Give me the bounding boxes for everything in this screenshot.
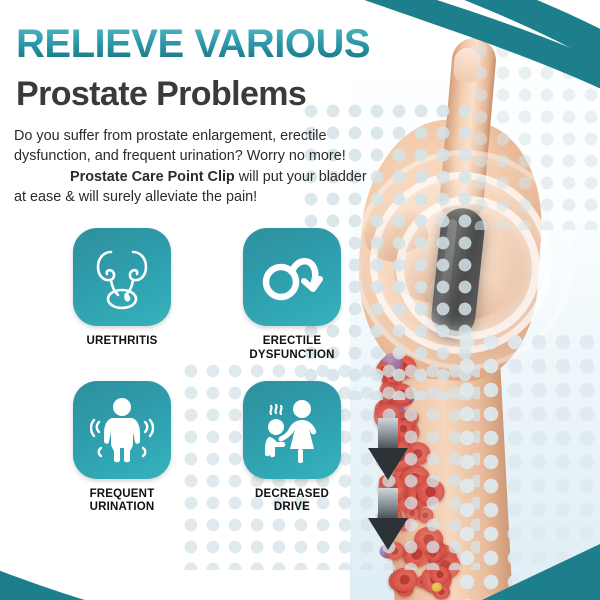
feature-tile bbox=[243, 228, 341, 326]
body-line-4: at ease & will surely alleviate the pain… bbox=[14, 189, 257, 205]
feature-label-line1: FREQUENT bbox=[90, 488, 155, 500]
feature-decreased-drive[interactable]: DECREASED DRIVE bbox=[222, 381, 362, 516]
bottom-right-corner-wedge bbox=[482, 544, 600, 600]
feature-label: FREQUENT URINATION bbox=[90, 488, 155, 516]
feature-tile bbox=[73, 228, 171, 326]
platelet bbox=[432, 582, 442, 591]
male-symbol-drooping-icon bbox=[260, 248, 324, 306]
feature-grid: URETHRITIS ERECTILE DYSFUNCTION bbox=[52, 228, 362, 515]
feature-erectile-dysfunction[interactable]: ERECTILE DYSFUNCTION bbox=[222, 228, 362, 363]
feature-label-line2: DYSFUNCTION bbox=[249, 349, 334, 361]
page-subtitle: Prostate Problems bbox=[16, 77, 306, 111]
feature-label: URETHRITIS bbox=[87, 335, 158, 349]
ripple-ring-inner bbox=[396, 196, 540, 340]
body-line-1: Do you suffer from prostate enlargement,… bbox=[14, 128, 326, 144]
advertisement-canvas: RELIEVE VARIOUS Prostate Problems Do you… bbox=[0, 0, 600, 600]
down-arrow-icon bbox=[368, 418, 408, 480]
feature-label: DECREASED DRIVE bbox=[255, 488, 329, 516]
feature-label-line2: URINATION bbox=[90, 501, 155, 513]
feature-frequent-urination[interactable]: FREQUENT URINATION bbox=[52, 381, 192, 516]
body-line-2: dysfunction, and frequent urination? Wor… bbox=[14, 148, 346, 164]
feature-tile bbox=[243, 381, 341, 479]
red-blood-cell bbox=[391, 567, 418, 592]
body-copy: Do you suffer from prostate enlargement,… bbox=[14, 126, 374, 208]
feature-label-line1: DECREASED bbox=[255, 488, 329, 500]
feature-row-2: FREQUENT URINATION bbox=[52, 381, 362, 516]
product-name: Prostate Care Point Clip bbox=[70, 169, 235, 185]
fingernail-shape bbox=[453, 47, 482, 83]
kidneys-bladder-icon bbox=[91, 244, 153, 310]
bottom-left-swoosh-decoration bbox=[0, 520, 270, 600]
feature-label: ERECTILE DYSFUNCTION bbox=[249, 335, 334, 363]
page-title: RELIEVE VARIOUS bbox=[16, 24, 370, 64]
body-line-3-rest: will put your bladder bbox=[235, 169, 367, 185]
person-holding-bladder-icon bbox=[90, 396, 154, 464]
feature-row-1: URETHRITIS ERECTILE DYSFUNCTION bbox=[52, 228, 362, 363]
feature-tile bbox=[73, 381, 171, 479]
feature-label-line1: ERECTILE bbox=[263, 335, 321, 347]
couple-low-libido-icon bbox=[259, 397, 325, 463]
red-blood-cell bbox=[416, 478, 445, 505]
down-arrow-icon bbox=[368, 488, 408, 550]
feature-label-line2: DRIVE bbox=[274, 501, 310, 513]
feature-urethritis[interactable]: URETHRITIS bbox=[52, 228, 192, 363]
